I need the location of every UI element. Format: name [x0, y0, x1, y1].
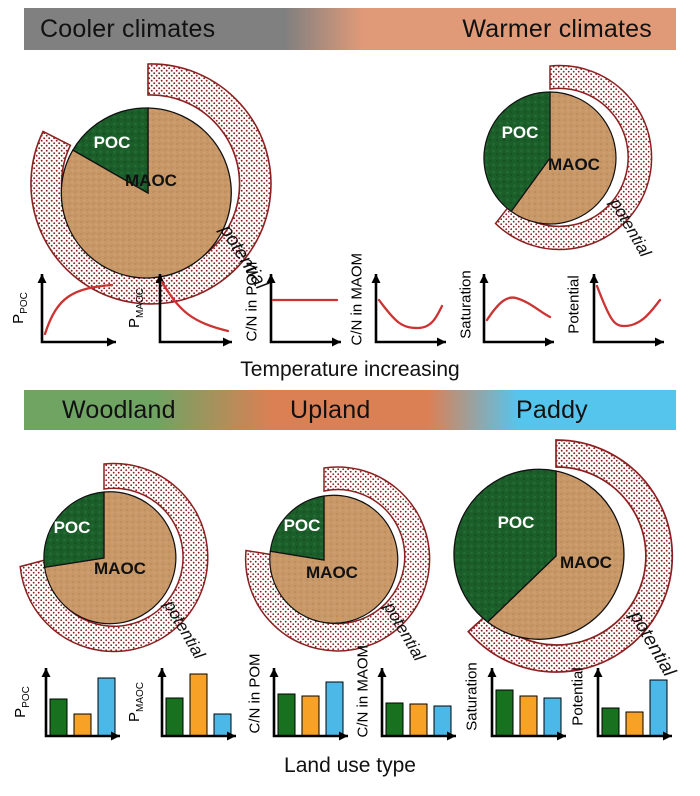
- chart-potential-ylabel: Potential: [566, 271, 583, 339]
- bar-upland: [302, 696, 319, 736]
- barchart-cn-pom: C/N in POM: [240, 662, 350, 746]
- chart-p-maoc: PMAOC: [128, 268, 238, 352]
- bar-upland: [74, 714, 91, 736]
- poc-wedge-label: POC: [502, 123, 539, 142]
- poc-wedge-label: POC: [498, 513, 535, 532]
- paddy-donut: POC MAOC potential: [428, 432, 700, 664]
- chart-p-poc: PPOC: [12, 268, 122, 352]
- cooler-climates-donut: POC MAOC potential: [8, 52, 288, 277]
- bar-paddy: [650, 680, 667, 736]
- bar-upland: [190, 674, 207, 736]
- chart-cn-maom: C/N in MAOM: [340, 268, 452, 352]
- barchart-potential-ylabel: Potential: [570, 663, 587, 731]
- landuse-caption: Land use type: [0, 754, 700, 778]
- barchart-p-poc-ylabel: PPOC: [12, 678, 32, 726]
- cooler-climates-label: Cooler climates: [40, 15, 215, 44]
- bar-woodland: [386, 703, 403, 736]
- bar-upland: [520, 696, 537, 736]
- bar-woodland: [496, 690, 513, 736]
- barchart-potential: Potential: [566, 662, 676, 746]
- climate-segment-warmer: Warmer climates: [462, 8, 652, 50]
- barchart-cn-maom: C/N in MAOM: [346, 662, 458, 746]
- bar-paddy: [544, 698, 561, 736]
- barchart-cn-maom-ylabel: C/N in MAOM: [355, 656, 372, 738]
- bar-paddy: [98, 678, 115, 736]
- chart-potential: Potential: [562, 268, 670, 352]
- bar-woodland: [278, 694, 295, 736]
- landuse-segment-paddy: Paddy: [516, 390, 588, 430]
- bar-woodland: [50, 699, 67, 736]
- maoc-wedge-label: MAOC: [306, 563, 358, 582]
- bar-woodland: [602, 708, 619, 736]
- upland-label: Upland: [290, 396, 370, 425]
- maoc-wedge-label: MAOC: [548, 155, 600, 174]
- chart-cn-pom: C/N in POM: [237, 268, 347, 352]
- chart-cn-pom-ylabel: C/N in POM: [244, 268, 261, 342]
- chart-saturation-ylabel: Saturation: [458, 267, 475, 343]
- climate-gradient-bar: Cooler climates Warmer climates: [24, 8, 676, 50]
- barchart-p-maoc: PMAOC: [128, 662, 238, 746]
- temperature-caption: Temperature increasing: [0, 358, 700, 382]
- chart-cn-maom-ylabel: C/N in MAOM: [349, 264, 366, 346]
- warmer-climates-label: Warmer climates: [462, 15, 652, 44]
- upland-donut: POC MAOC potential: [222, 458, 452, 654]
- paddy-label: Paddy: [516, 396, 588, 425]
- woodland-label: Woodland: [62, 396, 176, 425]
- poc-wedge-label: POC: [54, 518, 91, 537]
- maoc-wedge-label: MAOC: [560, 553, 612, 572]
- bar-paddy: [434, 706, 451, 736]
- barchart-saturation: Saturation: [458, 662, 568, 746]
- bar-woodland: [166, 698, 183, 736]
- landuse-gradient-bar: Woodland Upland Paddy: [24, 390, 676, 430]
- climate-segment-cooler: Cooler climates: [40, 8, 215, 50]
- poc-wedge-label: POC: [94, 133, 131, 152]
- landuse-segment-upland: Upland: [290, 390, 370, 430]
- chart-p-maoc-ylabel: PMAOC: [126, 282, 146, 334]
- chart-saturation: Saturation: [452, 268, 560, 352]
- chart-p-poc-ylabel: PPOC: [10, 284, 30, 332]
- bar-upland: [410, 704, 427, 736]
- landuse-panel: Woodland Upland Paddy: [0, 384, 700, 796]
- poc-wedge-label: POC: [284, 516, 321, 535]
- bar-upland: [626, 712, 643, 736]
- climate-panel: Cooler climates Warmer climates: [0, 0, 700, 382]
- landuse-segment-woodland: Woodland: [62, 390, 176, 430]
- bar-paddy: [326, 682, 343, 736]
- barchart-cn-pom-ylabel: C/N in POM: [247, 660, 264, 734]
- barchart-p-maoc-ylabel: PMAOC: [126, 676, 146, 728]
- barchart-saturation-ylabel: Saturation: [464, 659, 481, 735]
- barchart-p-poc: PPOC: [14, 662, 124, 746]
- warmer-climates-donut: POC MAOC potential: [450, 58, 680, 258]
- maoc-wedge-label: MAOC: [94, 559, 146, 578]
- maoc-wedge-label: MAOC: [125, 171, 177, 190]
- woodland-donut: POC MAOC potential: [0, 454, 235, 654]
